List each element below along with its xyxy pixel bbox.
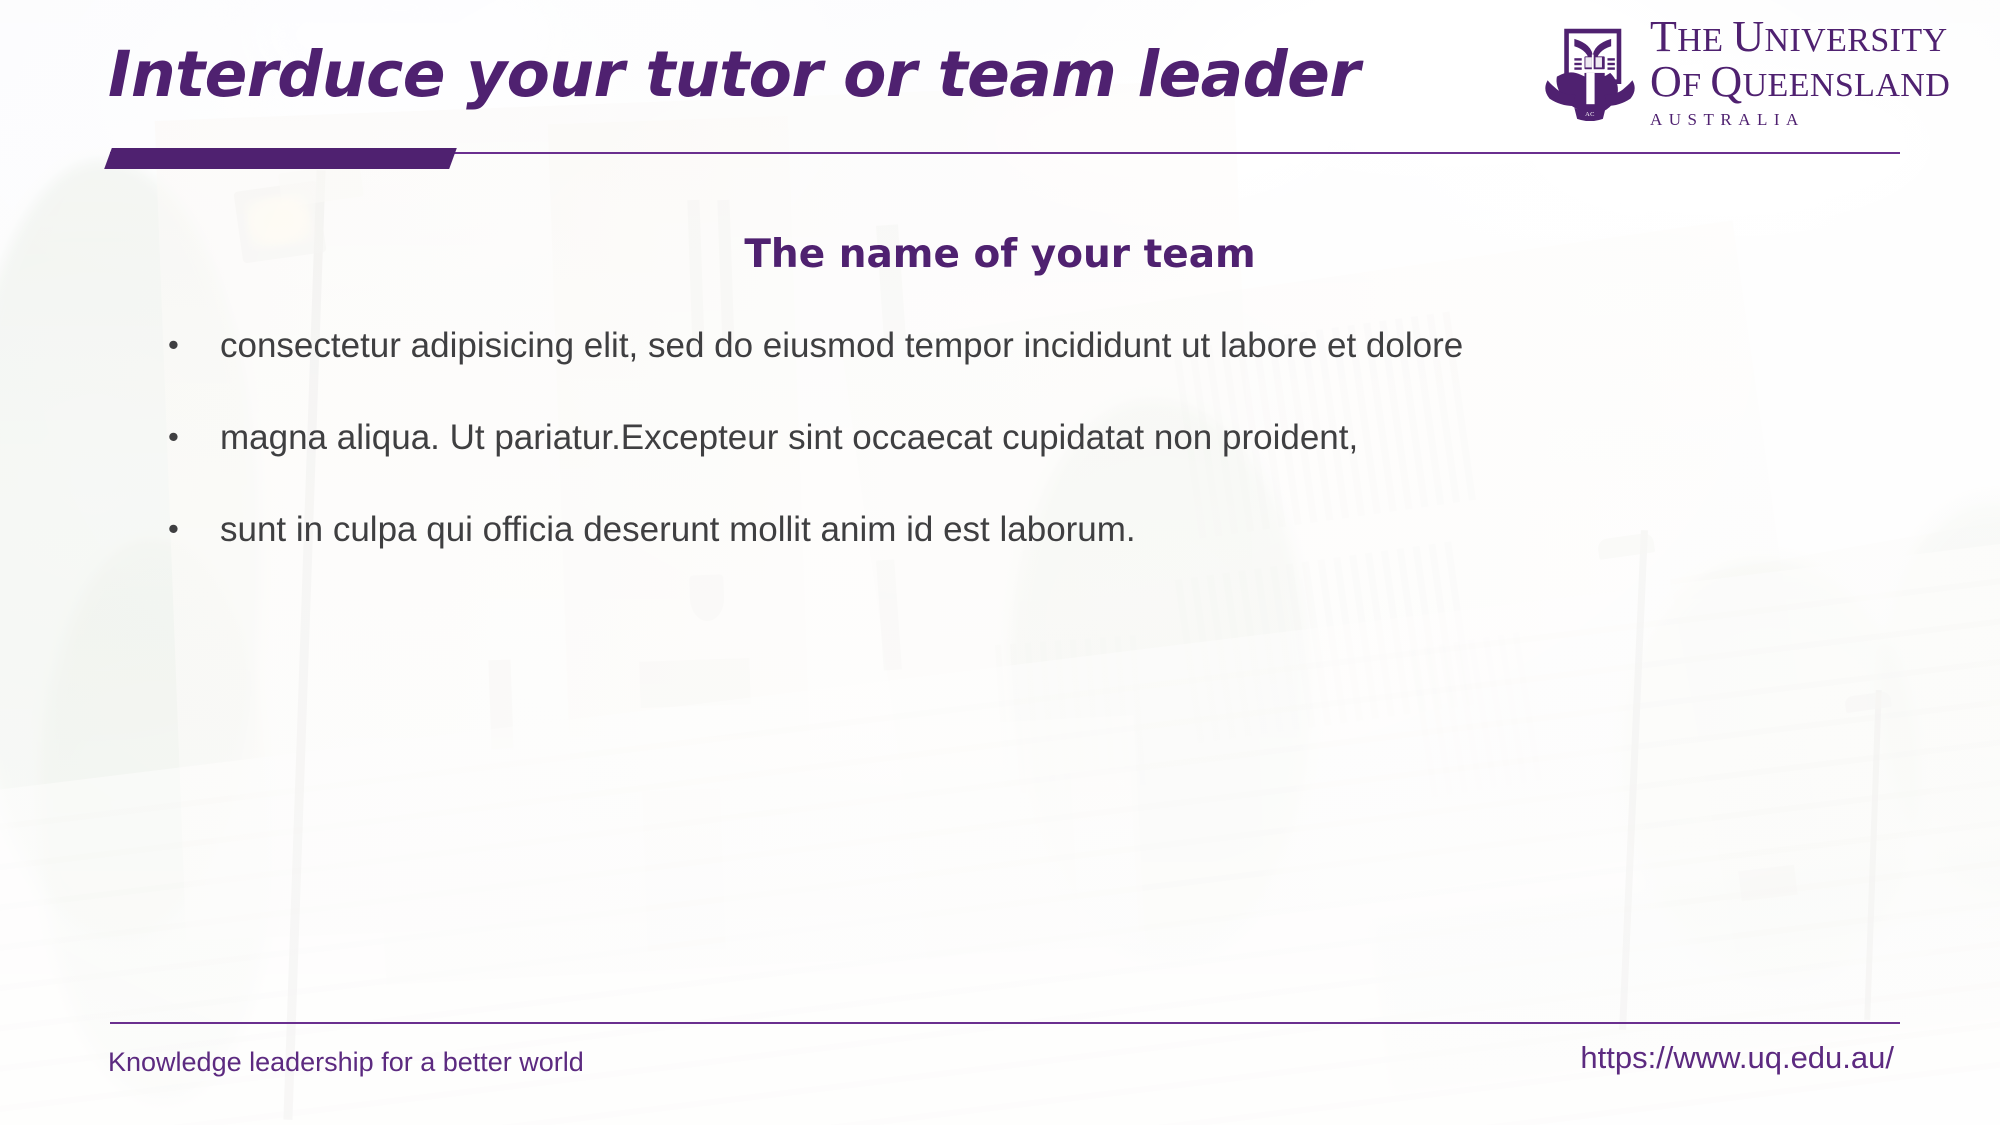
footer-tagline: Knowledge leadership for a better world	[108, 1047, 584, 1078]
logo-cap-o: O	[1650, 57, 1682, 106]
slide: Interduce your tutor or team leader	[0, 0, 2000, 1125]
uq-logo-wordmark: THE UNIVERSITY OF QUEENSLAND AUSTRALIA	[1650, 14, 1950, 131]
logo-text-niversity: NIVERSITY	[1765, 22, 1948, 59]
slide-title: Interduce your tutor or team leader	[108, 38, 1360, 111]
list-item: • sunt in culpa qui officia deserunt mol…	[168, 509, 1868, 551]
logo-line-3: AUSTRALIA	[1650, 110, 1950, 130]
logo-cap-u: U	[1732, 12, 1764, 61]
footer-divider-line	[110, 1022, 1900, 1024]
logo-cap-q: Q	[1710, 57, 1742, 106]
bullet-marker-icon: •	[168, 417, 220, 457]
list-item: • consectetur adipisicing elit, sed do e…	[168, 325, 1868, 367]
uq-crest-icon: AC	[1544, 23, 1636, 121]
list-item: • magna aliqua. Ut pariatur.Excepteur si…	[168, 417, 1868, 459]
logo-text-ueensland: UEENSLAND	[1743, 67, 1951, 104]
bullet-list: • consectetur adipisicing elit, sed do e…	[168, 325, 1868, 601]
logo-cap-t: T	[1650, 12, 1677, 61]
footer-url[interactable]: https://www.uq.edu.au/	[1580, 1040, 1894, 1076]
bullet-marker-icon: •	[168, 509, 220, 549]
svg-text:AC: AC	[1585, 111, 1595, 118]
logo-line-2: OF QUEENSLAND	[1650, 59, 1950, 104]
logo-text-he: HE	[1677, 22, 1732, 59]
slide-content: Interduce your tutor or team leader	[0, 0, 2000, 1125]
list-item-text: magna aliqua. Ut pariatur.Excepteur sint…	[220, 417, 1868, 459]
team-name-heading: The name of your team	[0, 232, 2000, 277]
logo-line-1: THE UNIVERSITY	[1650, 14, 1950, 59]
list-item-text: consectetur adipisicing elit, sed do eiu…	[220, 325, 1868, 367]
logo-text-f: F	[1682, 67, 1710, 104]
bullet-marker-icon: •	[168, 325, 220, 365]
list-item-text: sunt in culpa qui officia deserunt molli…	[220, 509, 1868, 551]
uq-logo: AC THE UNIVERSITY OF QUEENSLAND AUSTRALI…	[1544, 16, 1894, 128]
title-accent-bar	[104, 148, 457, 169]
